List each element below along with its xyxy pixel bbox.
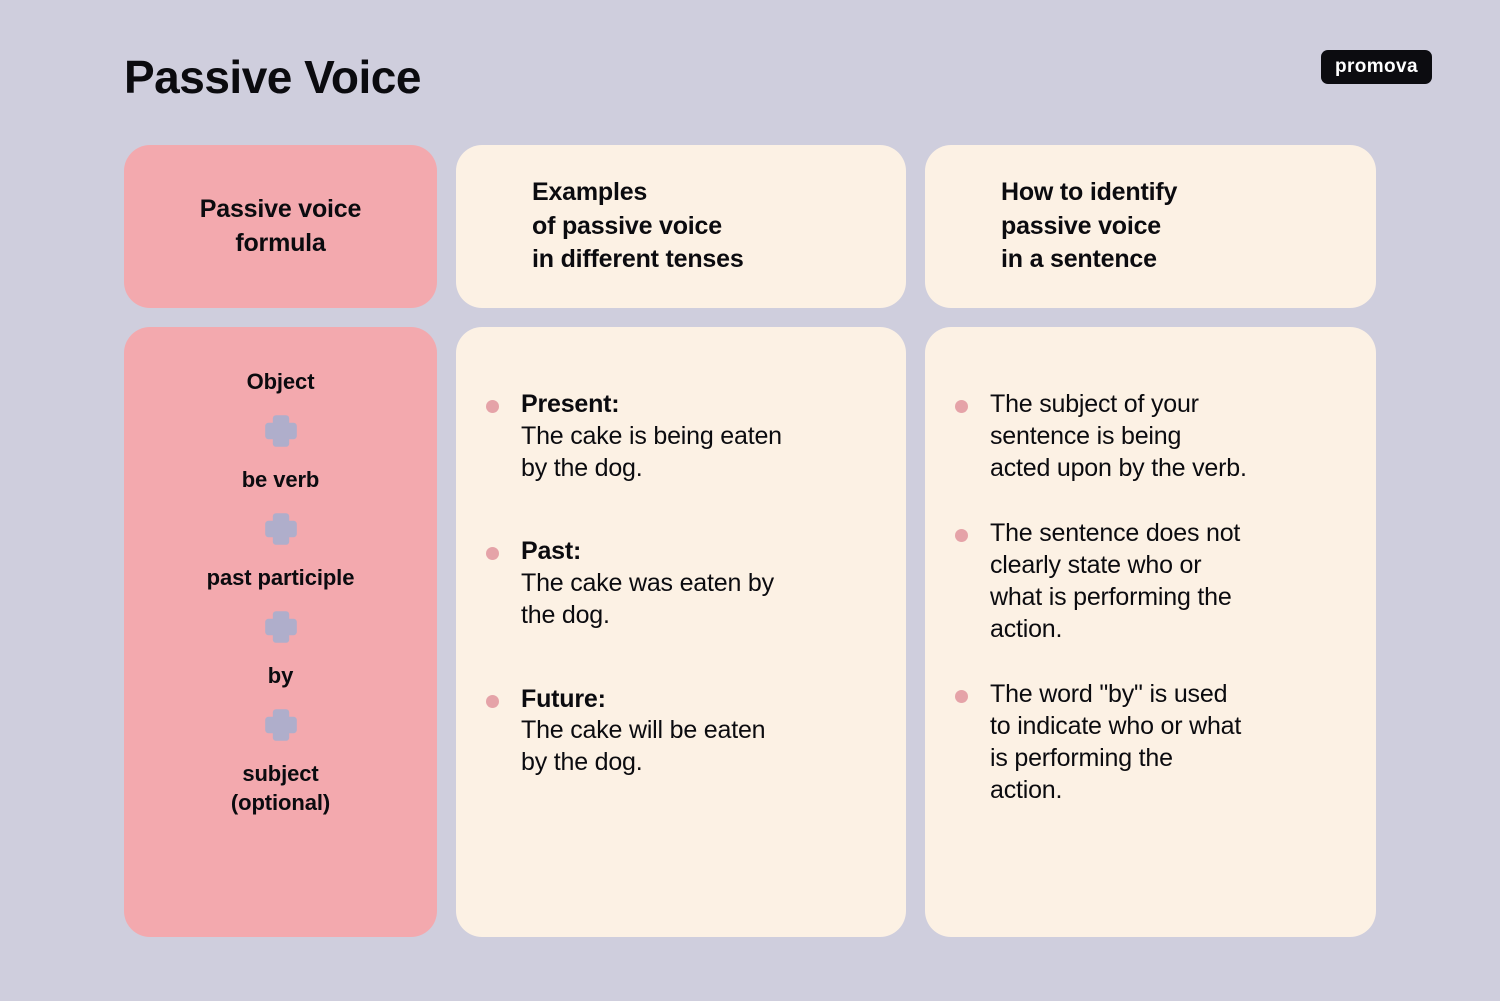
example-text-present: The cake is being eaten by the dog. (521, 421, 782, 485)
promova-logo: promova (1321, 50, 1432, 84)
formula-column: Object be verb past participle by (124, 327, 437, 937)
bullet-dot-icon (955, 529, 968, 542)
example-text-past: The cake was eaten by the dog. (521, 568, 774, 632)
plus-icon (262, 510, 300, 548)
identify-text-2: The sentence does not clearly state who … (990, 518, 1240, 645)
example-label-past: Past: (521, 536, 774, 568)
bullet-dot-icon (955, 690, 968, 703)
header-identify-label: How to identify passive voice in a sente… (1001, 176, 1177, 277)
identify-text-1: The subject of your sentence is being ac… (990, 389, 1247, 484)
page-title: Passive Voice (124, 52, 421, 103)
list-item: The subject of your sentence is being ac… (955, 389, 1350, 484)
comparison-board: Passive voice formula Examples of passiv… (124, 145, 1376, 937)
header-card-examples: Examples of passive voice in different t… (456, 145, 906, 308)
example-label-present: Present: (521, 389, 782, 421)
example-text-future: The cake will be eaten by the dog. (521, 715, 765, 779)
bullet-dot-icon (486, 695, 499, 708)
header-card-identify: How to identify passive voice in a sente… (925, 145, 1376, 308)
list-item: The word "by" is used to indicate who or… (955, 679, 1350, 806)
bullet-dot-icon (955, 400, 968, 413)
plus-icon (262, 608, 300, 646)
list-item: Past: The cake was eaten by the dog. (486, 536, 880, 631)
identify-text-3: The word "by" is used to indicate who or… (990, 679, 1241, 806)
bullet-dot-icon (486, 400, 499, 413)
identify-column: The subject of your sentence is being ac… (925, 327, 1376, 937)
plus-icon (262, 412, 300, 450)
formula-term-object: Object (247, 367, 315, 396)
infographic-page: Passive Voice promova Passive voice form… (0, 0, 1500, 1001)
header-examples-label: Examples of passive voice in different t… (532, 176, 744, 277)
bullet-dot-icon (486, 547, 499, 560)
formula-term-be-verb: be verb (242, 465, 320, 494)
list-item: The sentence does not clearly state who … (955, 518, 1350, 645)
list-item: Present: The cake is being eaten by the … (486, 389, 880, 484)
example-label-future: Future: (521, 684, 765, 716)
header-card-formula: Passive voice formula (124, 145, 437, 308)
list-item: Future: The cake will be eaten by the do… (486, 684, 880, 779)
formula-term-by: by (268, 661, 293, 690)
formula-term-subject: subject (optional) (231, 759, 330, 817)
examples-column: Present: The cake is being eaten by the … (456, 327, 906, 937)
plus-icon (262, 706, 300, 744)
header-formula-label: Passive voice formula (200, 193, 361, 261)
formula-term-past-participle: past participle (207, 563, 355, 592)
